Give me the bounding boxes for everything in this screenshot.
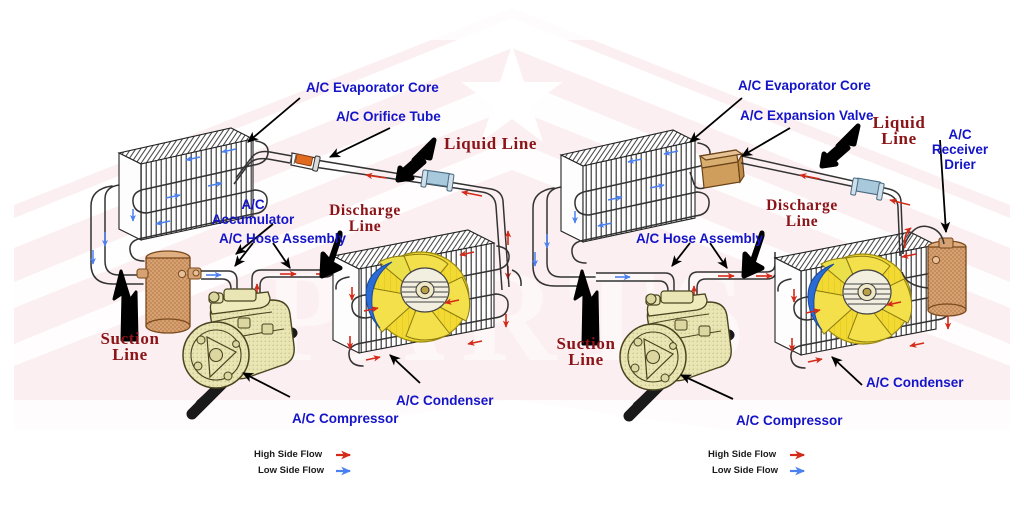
label-right-discharge-line: Discharge Line [752,198,852,230]
pointer-left-compressor [243,373,290,397]
left-orifice-tube [290,153,320,171]
pointer-left-condenser [390,355,420,383]
label-left-suction-line: Suction Line [78,331,182,363]
label-right-discharge-line2: Line [752,214,852,230]
left-system-artwork [91,128,521,414]
label-right-hose-assembly: A/C Hose Assembly [636,232,763,247]
pointer-right-expansion-valve [742,128,790,156]
pointer-left-hose-b [273,243,290,268]
right-condenser [775,232,951,368]
label-right-compressor: A/C Compressor [736,414,843,429]
pointer-right-evaporator [690,98,742,142]
legend-left-low-side-label: Low Side Flow [258,465,324,476]
label-left-suction-line2: Line [78,347,182,363]
label-left-compressor: A/C Compressor [292,412,399,427]
label-left-evaporator-core: A/C Evaporator Core [306,81,439,96]
ac-system-diagram: PARTS [0,0,1024,526]
right-evaporator-core [533,130,710,286]
legend-left-high-side-label: High Side Flow [254,449,322,460]
label-left-orifice-tube: A/C Orifice Tube [336,110,441,125]
legend-right-high-side-label: High Side Flow [708,449,776,460]
label-right-expansion-valve: A/C Expansion Valve [740,109,874,124]
label-left-accumulator: A/C Accumulator [208,198,298,227]
label-left-condenser: A/C Condenser [396,394,494,409]
pointer-right-hose-b [710,243,727,268]
label-right-receiver-drier: A/C Receiver Drier [922,127,998,172]
pointer-left-evaporator [248,98,300,142]
left-compressor [183,289,294,414]
right-expansion-valve [690,150,744,189]
label-right-condenser: A/C Condenser [866,376,964,391]
label-left-discharge-line1: Discharge [315,203,415,219]
label-right-evaporator-core: A/C Evaporator Core [738,79,871,94]
label-left-accumulator-line2: Accumulator [208,213,298,228]
label-right-discharge-line1: Discharge [752,198,852,214]
label-left-liquid-line: Liquid Line [444,136,537,152]
label-right-drier-line3: Drier [922,157,998,172]
label-right-drier-line2: Receiver [922,142,998,157]
left-accumulator [137,251,201,333]
label-right-drier-line1: A/C [922,127,998,142]
label-right-suction-line2: Line [534,352,638,368]
pointer-right-condenser [832,357,862,385]
left-line-coupler [421,170,454,192]
label-left-accumulator-line1: A/C [208,198,298,213]
label-left-hose-assembly: A/C Hose Assembly [219,232,346,247]
right-line-coupler [850,178,884,201]
left-condenser [333,230,509,366]
pointer-right-compressor [681,375,733,399]
label-right-suction-line: Suction Line [534,336,638,368]
pointer-left-orifice [330,128,390,157]
legend-right-low-side-label: Low Side Flow [712,465,778,476]
right-liquid-arrow [822,126,858,166]
